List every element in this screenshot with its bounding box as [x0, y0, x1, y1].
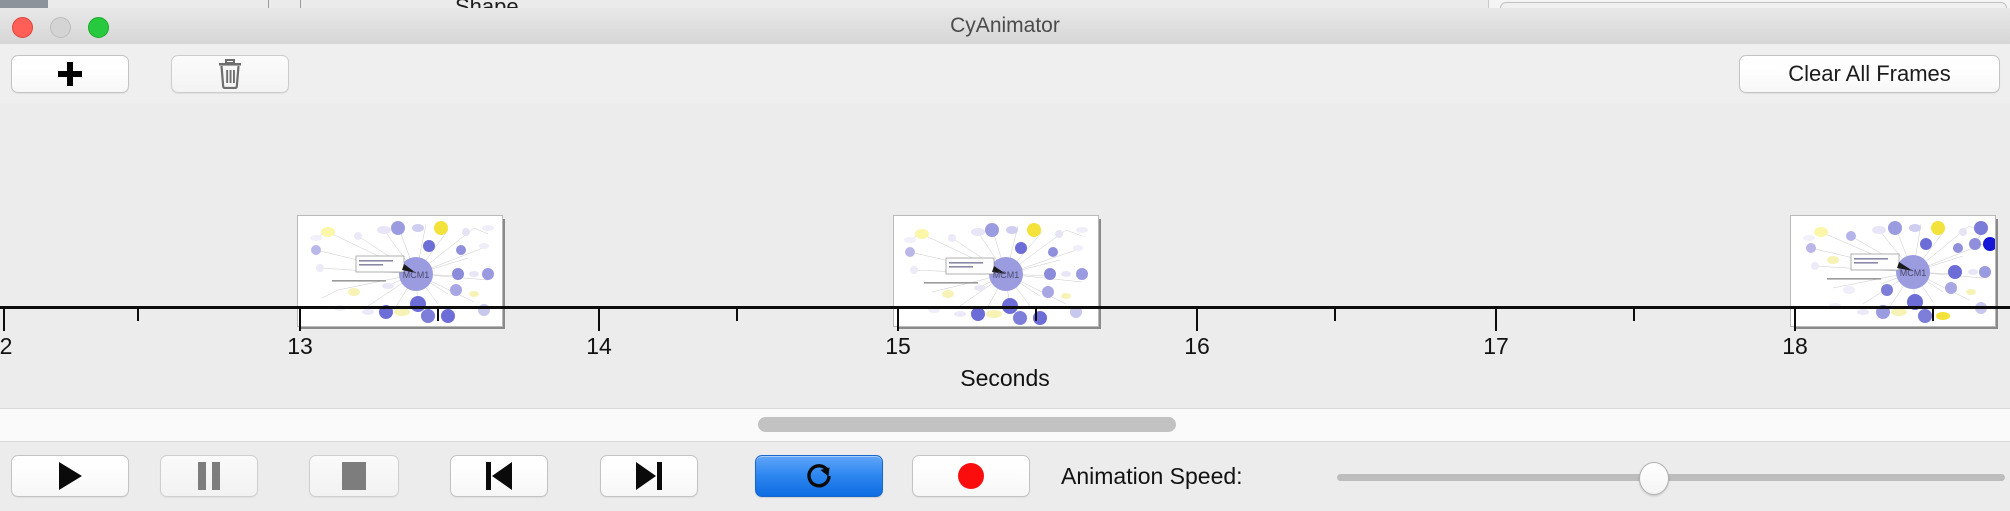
delete-frame-button[interactable]: [171, 55, 289, 93]
loop-icon: [804, 461, 834, 491]
svg-text:MCM1: MCM1: [1900, 268, 1927, 278]
trash-icon: [217, 59, 243, 89]
axis-tick-label: 18: [1782, 333, 1808, 360]
loop-button[interactable]: [755, 455, 883, 497]
timeline-frame[interactable]: MCM1: [893, 215, 1101, 329]
axis-tick-label: 2: [0, 333, 12, 360]
timeline-panel[interactable]: MCM1: [0, 103, 2010, 408]
frame-thumbnail: MCM1: [297, 215, 503, 327]
axis-tick-minor: [1334, 309, 1336, 321]
scrollbar-thumb[interactable]: [758, 417, 1176, 432]
pause-button[interactable]: [160, 455, 258, 497]
add-frame-button[interactable]: [11, 55, 129, 93]
frame-thumbnail: MCM1: [893, 215, 1099, 327]
axis-tick-minor: [1932, 309, 1934, 321]
axis-tick-label: 17: [1483, 333, 1509, 360]
axis-tick-major: [1794, 309, 1796, 331]
network-thumbnail-1: MCM1: [298, 216, 502, 326]
axis-tick-minor: [736, 309, 738, 321]
toolbar: Clear All Frames: [0, 44, 2010, 104]
axis-tick-major: [1495, 309, 1497, 331]
timeline-axis: [0, 306, 2010, 309]
screen: Shape CyAnimator: [0, 0, 2010, 510]
axis-tick-label: 14: [586, 333, 612, 360]
slider-thumb[interactable]: [1639, 462, 1669, 495]
pause-icon: [198, 462, 220, 490]
skip-next-button[interactable]: [600, 455, 698, 497]
clear-all-frames-button[interactable]: Clear All Frames: [1739, 55, 2000, 93]
timeline-scrollbar[interactable]: [0, 408, 2010, 442]
timeline-frame[interactable]: MCM1: [297, 215, 505, 329]
axis-tick-minor: [1633, 309, 1635, 321]
svg-text:MCM1: MCM1: [993, 270, 1020, 280]
network-thumbnail-3: MCM1: [1791, 216, 1995, 326]
axis-tick-label: 15: [885, 333, 911, 360]
playback-control-bar: Animation Speed:: [0, 441, 2010, 511]
titlebar: CyAnimator: [0, 8, 2010, 45]
frame-thumbnail: MCM1: [1790, 215, 1996, 327]
axis-tick-major: [897, 309, 899, 331]
play-button[interactable]: [11, 455, 129, 497]
skip-next-icon: [636, 462, 662, 490]
record-button[interactable]: [912, 455, 1030, 497]
cyanimator-window: CyAnimator Clear All Frames: [0, 8, 2010, 510]
window-title: CyAnimator: [0, 8, 2010, 44]
axis-tick-minor: [1035, 309, 1037, 321]
axis-tick-major: [3, 309, 5, 331]
skip-previous-button[interactable]: [450, 455, 548, 497]
stop-button[interactable]: [309, 455, 399, 497]
record-icon: [958, 463, 984, 489]
axis-tick-label: 16: [1184, 333, 1210, 360]
network-thumbnail-2: MCM1: [894, 216, 1098, 326]
svg-text:MCM1: MCM1: [403, 270, 430, 280]
play-icon: [59, 462, 82, 490]
animation-speed-slider[interactable]: [1337, 455, 2005, 497]
axis-tick-label: 13: [287, 333, 313, 360]
axis-tick-minor: [437, 309, 439, 321]
axis-tick-major: [1196, 309, 1198, 331]
axis-title: Seconds: [0, 365, 2010, 392]
plus-icon: [58, 62, 82, 86]
slider-rail: [1337, 474, 2005, 481]
axis-tick-major: [598, 309, 600, 331]
skip-previous-icon: [486, 462, 512, 490]
stop-icon: [342, 462, 366, 490]
axis-tick-major: [299, 309, 301, 331]
axis-tick-minor: [137, 309, 139, 321]
animation-speed-label: Animation Speed:: [1061, 455, 1243, 497]
timeline-frame[interactable]: MCM1: [1790, 215, 1998, 329]
